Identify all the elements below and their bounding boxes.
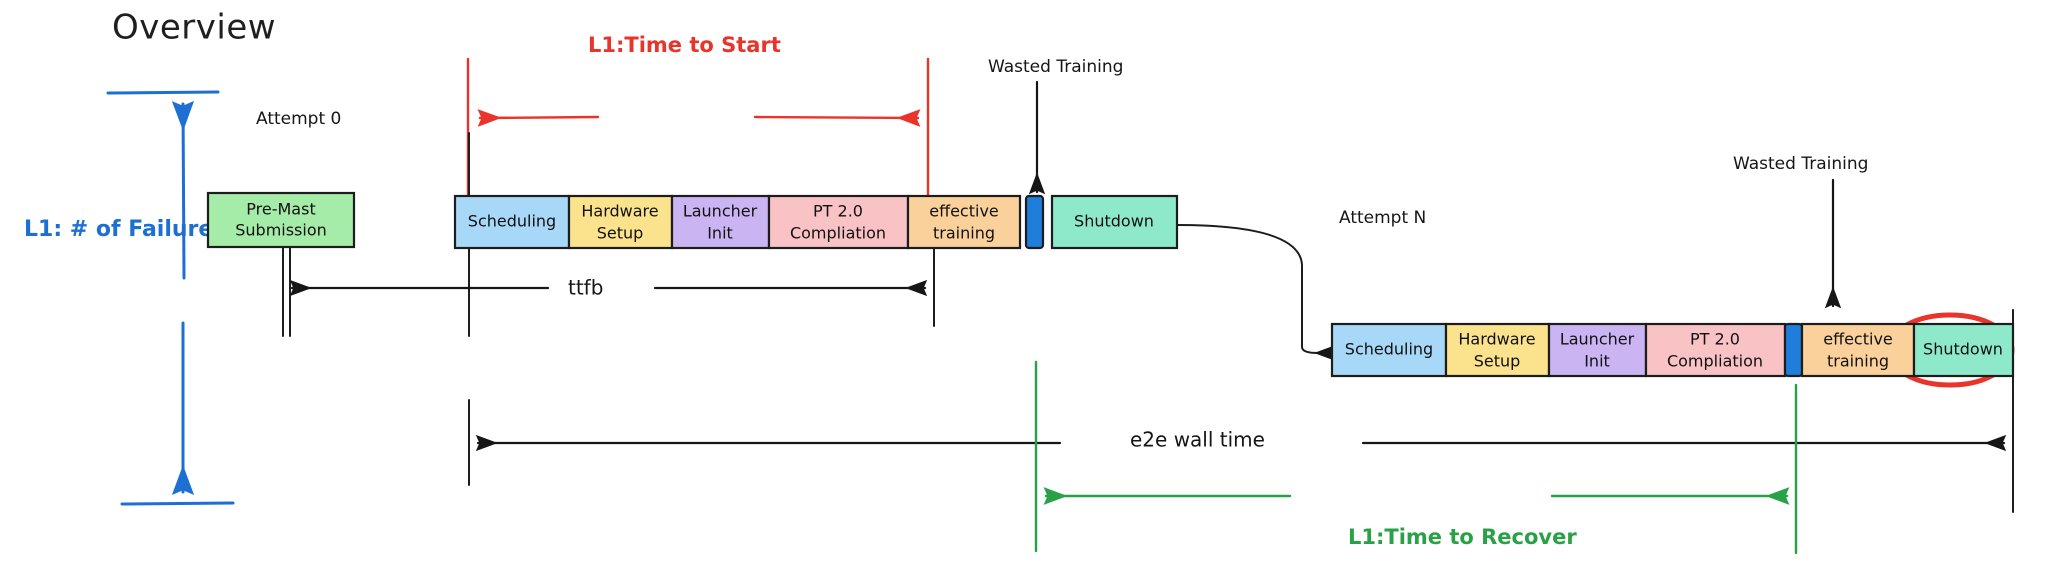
stage-label-line2: training: [933, 224, 995, 243]
attempt-n-stage-launcher-init[interactable]: Launcher Init: [1549, 324, 1646, 376]
pre-mast-line2: Submission: [235, 221, 327, 240]
attempt-n-stage-effective-training[interactable]: effective training: [1802, 324, 1914, 376]
stage-label-line2: training: [1827, 352, 1889, 371]
attempt-0-stage-wasted-training[interactable]: [1026, 196, 1043, 248]
attempt-n-stage-pt-compilation[interactable]: PT 2.0 Compliation: [1646, 324, 1785, 376]
stage-label-line1: effective: [1823, 330, 1893, 349]
attempt-n-stage-hardware-setup[interactable]: Hardware Setup: [1446, 324, 1549, 376]
attempt-0-stage-pt-compilation[interactable]: PT 2.0 Compliation: [769, 196, 908, 248]
stage-label-line1: PT 2.0: [813, 202, 863, 221]
pre-mast-submission-box[interactable]: Pre-Mast Submission: [208, 193, 354, 247]
stage-label-line2: Init: [1584, 352, 1610, 371]
pre-mast-line1: Pre-Mast: [246, 200, 315, 219]
stage-label: Shutdown: [1074, 212, 1154, 231]
stage-label: Scheduling: [1345, 340, 1433, 359]
stage-boxes-layer: Pre-Mast Submission Scheduling Hardware …: [0, 0, 2048, 583]
stage-label-line2: Init: [707, 224, 733, 243]
stage-label-line1: Launcher: [683, 202, 758, 221]
attempt-0-stage-shutdown[interactable]: Shutdown: [1052, 196, 1177, 248]
stage-label-line1: Hardware: [1458, 330, 1535, 349]
stage-label: Scheduling: [468, 212, 556, 231]
attempt-0-stage-launcher-init[interactable]: Launcher Init: [672, 196, 769, 248]
attempt-n-stage-scheduling[interactable]: Scheduling: [1332, 324, 1446, 376]
stage-label-line2: Setup: [597, 224, 644, 243]
attempt-n-timeline: Scheduling Hardware Setup Launcher Init …: [1332, 324, 2013, 376]
stage-label-line1: effective: [929, 202, 999, 221]
attempt-n-stage-shutdown[interactable]: Shutdown: [1914, 324, 2013, 376]
attempt-0-stage-scheduling[interactable]: Scheduling: [455, 196, 569, 248]
attempt-0-stage-effective-training[interactable]: effective training: [908, 196, 1020, 248]
stage-label-line2: Compliation: [790, 224, 886, 243]
stage-label-line1: Launcher: [1560, 330, 1635, 349]
attempt-0-timeline: Scheduling Hardware Setup Launcher Init …: [455, 196, 1177, 248]
stage-label-line2: Setup: [1474, 352, 1521, 371]
stage-label-line1: PT 2.0: [1690, 330, 1740, 349]
diagram-canvas: Overview L1: # of Failures L1:Time to St…: [0, 0, 2048, 583]
attempt-n-stage-wasted-training[interactable]: [1785, 324, 1802, 376]
stage-label-line1: Hardware: [581, 202, 658, 221]
stage-label: Shutdown: [1923, 340, 2003, 359]
attempt-0-stage-hardware-setup[interactable]: Hardware Setup: [569, 196, 672, 248]
stage-label-line2: Compliation: [1667, 352, 1763, 371]
